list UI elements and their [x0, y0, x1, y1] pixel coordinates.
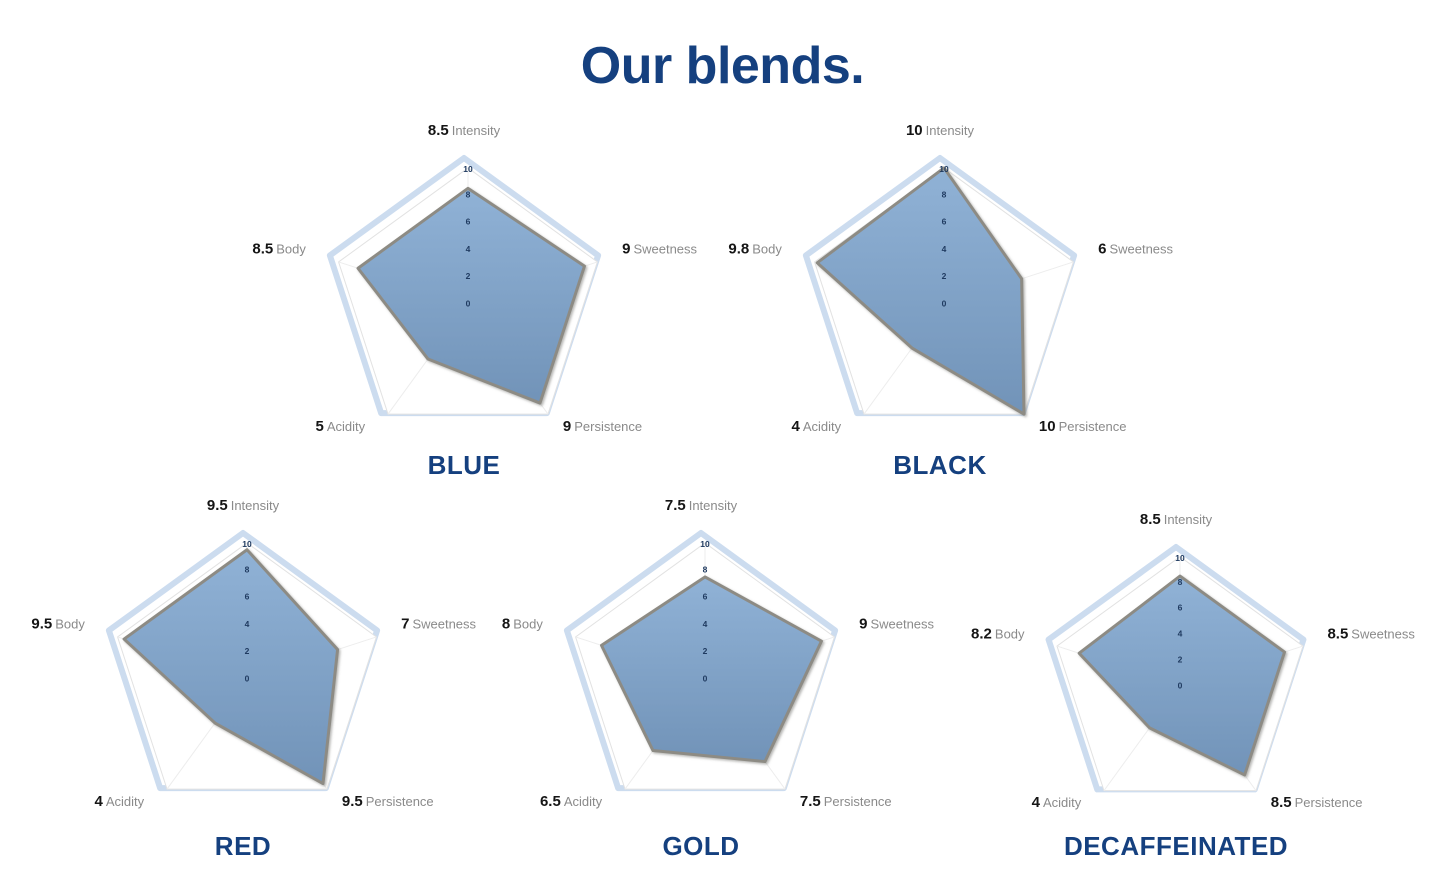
axis-name: Body — [55, 617, 85, 632]
axis-name: Acidity — [106, 794, 144, 809]
radar-tick-label: 10 — [242, 539, 252, 549]
blend-title-decaffeinated: DECAFFEINATED — [966, 831, 1386, 862]
axis-value: 9 — [563, 418, 571, 435]
radar-spoke — [944, 262, 1073, 304]
radar-chart-gold: 10864207.5Intensity9Sweetness7.5Persiste… — [0, 0, 1445, 894]
axis-value: 8.5 — [252, 241, 273, 258]
radar-spoke — [815, 262, 944, 304]
axis-value: 7 — [401, 616, 409, 633]
axis-label-persistence: 8.5Persistence — [1271, 795, 1363, 810]
axis-label-intensity: 8.5Intensity — [1140, 512, 1212, 527]
radar-spoke — [1057, 646, 1180, 686]
radar-tick-label: 6 — [466, 217, 471, 227]
radar-plot-gold: 1086420 — [0, 0, 1445, 894]
axis-label-body: 8.5Body — [252, 242, 306, 257]
blend-title-gold: GOLD — [491, 831, 911, 862]
radar-tick-label: 2 — [703, 646, 708, 656]
axis-label-intensity: 9.5Intensity — [207, 498, 279, 513]
axis-name: Intensity — [926, 123, 974, 138]
axis-name: Acidity — [803, 419, 841, 434]
axis-value: 8.5 — [1327, 625, 1348, 642]
axis-label-intensity: 8.5Intensity — [428, 123, 500, 138]
radar-tick-label: 6 — [703, 592, 708, 602]
radar-plot-red: 1086420 — [0, 0, 1445, 894]
axis-value: 9.8 — [728, 241, 749, 258]
radar-tick-label: 2 — [1178, 654, 1183, 664]
radar-tick-label: 2 — [245, 646, 250, 656]
radar-tick-label: 8 — [466, 189, 471, 199]
radar-data-polygon — [601, 577, 821, 762]
axis-name: Sweetness — [633, 242, 697, 257]
axis-label-sweetness: 9Sweetness — [622, 242, 697, 257]
axis-value: 9.5 — [342, 793, 363, 810]
radar-tick-label: 6 — [1178, 603, 1183, 613]
radar-spoke — [388, 304, 468, 414]
radar-spoke — [339, 262, 468, 304]
axis-name: Acidity — [327, 419, 365, 434]
axis-name: Body — [513, 617, 543, 632]
radar-tick-label: 6 — [245, 592, 250, 602]
axis-name: Intensity — [1164, 512, 1212, 527]
axis-label-sweetness: 6Sweetness — [1098, 242, 1173, 257]
radar-tick-label: 10 — [700, 539, 710, 549]
radar-inner-outline — [576, 543, 835, 789]
radar-tick-label: 8 — [1178, 577, 1183, 587]
axis-value: 9 — [622, 241, 630, 258]
radar-tick-label: 8 — [245, 564, 250, 574]
radar-plot-decaffeinated: 1086420 — [0, 0, 1445, 894]
axis-value: 7.5 — [665, 497, 686, 514]
radar-spoke — [167, 679, 247, 789]
axis-name: Intensity — [231, 498, 279, 513]
axis-label-persistence: 7.5Persistence — [800, 794, 892, 809]
axis-name: Persistence — [1295, 795, 1363, 810]
axis-value: 8 — [502, 616, 510, 633]
axis-value: 8.2 — [971, 625, 992, 642]
radar-tick-label: 10 — [463, 164, 473, 174]
radar-tick-label: 6 — [942, 217, 947, 227]
axis-name: Persistence — [824, 794, 892, 809]
radar-chart-black: 108642010Intensity6Sweetness10Persistenc… — [0, 0, 1445, 894]
radar-tick-label: 10 — [1175, 553, 1185, 563]
axis-label-body: 8Body — [502, 617, 543, 632]
radar-inner-outline — [1057, 557, 1303, 791]
axis-value: 4 — [791, 418, 799, 435]
axis-value: 9 — [859, 616, 867, 633]
axis-label-sweetness: 7Sweetness — [401, 617, 476, 632]
radar-spoke — [468, 304, 548, 414]
radar-spoke — [944, 304, 1024, 414]
radar-outer-ring — [330, 158, 598, 413]
axis-label-intensity: 7.5Intensity — [665, 498, 737, 513]
radar-spoke — [705, 679, 785, 789]
axis-name: Sweetness — [870, 617, 934, 632]
radar-data-polygon — [1079, 576, 1284, 775]
radar-data-polygon — [124, 550, 338, 784]
radar-tick-label: 8 — [942, 189, 947, 199]
axis-value: 8.5 — [428, 122, 449, 139]
axis-name: Persistence — [366, 794, 434, 809]
radar-tick-label: 0 — [703, 673, 708, 683]
radar-spoke — [1180, 686, 1256, 791]
axis-name: Body — [995, 626, 1025, 641]
radar-spoke — [625, 679, 705, 789]
radar-spoke — [705, 637, 834, 679]
blend-title-blue: BLUE — [254, 450, 674, 481]
radar-tick-label: 8 — [703, 564, 708, 574]
axis-name: Sweetness — [1109, 242, 1173, 257]
axis-value: 10 — [1039, 418, 1056, 435]
axis-label-intensity: 10Intensity — [906, 123, 974, 138]
axis-label-sweetness: 8.5Sweetness — [1327, 626, 1414, 641]
radar-plot-black: 1086420 — [0, 0, 1445, 894]
radar-outer-ring — [806, 158, 1074, 413]
radar-inner-outline — [339, 168, 598, 414]
radar-chart-blue: 10864208.5Intensity9Sweetness9Persistenc… — [0, 0, 1445, 894]
radar-tick-label: 4 — [245, 619, 250, 629]
radar-spoke — [247, 637, 376, 679]
axis-value: 5 — [315, 418, 323, 435]
radar-plot-blue: 1086420 — [0, 0, 1445, 894]
axis-name: Acidity — [564, 794, 602, 809]
radar-data-polygon — [358, 188, 584, 403]
axis-label-persistence: 10Persistence — [1039, 419, 1127, 434]
radar-tick-label: 4 — [1178, 629, 1183, 639]
axis-value: 6 — [1098, 241, 1106, 258]
axis-value: 4 — [94, 793, 102, 810]
radar-spoke — [468, 262, 597, 304]
axis-name: Persistence — [1059, 419, 1127, 434]
radar-chart-red: 10864209.5Intensity7Sweetness9.5Persiste… — [0, 0, 1445, 894]
radar-chart-decaffeinated: 10864208.5Intensity8.5Sweetness8.5Persis… — [0, 0, 1445, 894]
radar-tick-label: 0 — [942, 298, 947, 308]
radar-tick-label: 0 — [245, 673, 250, 683]
radar-inner-outline — [118, 543, 377, 789]
radar-outer-ring — [567, 533, 835, 788]
axis-label-sweetness: 9Sweetness — [859, 617, 934, 632]
axis-value: 4 — [1032, 794, 1040, 811]
axis-name: Sweetness — [1351, 626, 1415, 641]
radar-tick-label: 0 — [466, 298, 471, 308]
blend-title-red: RED — [33, 831, 453, 862]
axis-label-acidity: 5Acidity — [315, 419, 365, 434]
axis-value: 8.5 — [1140, 511, 1161, 528]
axis-name: Acidity — [1043, 795, 1081, 810]
radar-outer-ring — [109, 533, 377, 788]
radar-spoke — [864, 304, 944, 414]
radar-spoke — [576, 637, 705, 679]
axis-label-acidity: 4Acidity — [94, 794, 144, 809]
blend-radar-chart-grid: 10864208.5Intensity9Sweetness9Persistenc… — [0, 0, 1445, 894]
axis-name: Persistence — [574, 419, 642, 434]
axis-label-body: 9.8Body — [728, 242, 782, 257]
radar-tick-label: 2 — [466, 271, 471, 281]
axis-name: Intensity — [689, 498, 737, 513]
axis-value: 10 — [906, 122, 923, 139]
axis-label-body: 9.5Body — [31, 617, 85, 632]
axis-value: 7.5 — [800, 793, 821, 810]
radar-spoke — [247, 679, 327, 789]
radar-tick-label: 10 — [939, 164, 949, 174]
axis-value: 6.5 — [540, 793, 561, 810]
axis-value: 9.5 — [207, 497, 228, 514]
axis-value: 8.5 — [1271, 794, 1292, 811]
axis-label-acidity: 4Acidity — [791, 419, 841, 434]
radar-inner-outline — [815, 168, 1074, 414]
blend-title-black: BLACK — [730, 450, 1150, 481]
axis-name: Body — [276, 242, 306, 257]
axis-label-acidity: 4Acidity — [1032, 795, 1082, 810]
radar-tick-label: 4 — [942, 244, 947, 254]
axis-name: Intensity — [452, 123, 500, 138]
axis-label-persistence: 9.5Persistence — [342, 794, 434, 809]
axis-label-persistence: 9Persistence — [563, 419, 642, 434]
radar-data-polygon — [817, 168, 1024, 414]
radar-tick-label: 4 — [466, 244, 471, 254]
radar-spoke — [1180, 646, 1303, 686]
radar-tick-label: 2 — [942, 271, 947, 281]
axis-name: Sweetness — [412, 617, 476, 632]
axis-label-acidity: 6.5Acidity — [540, 794, 602, 809]
radar-spoke — [118, 637, 247, 679]
radar-tick-label: 4 — [703, 619, 708, 629]
radar-outer-ring — [1049, 547, 1304, 789]
axis-label-body: 8.2Body — [971, 626, 1025, 641]
radar-spoke — [1104, 686, 1180, 791]
radar-tick-label: 0 — [1178, 680, 1183, 690]
axis-value: 9.5 — [31, 616, 52, 633]
axis-name: Body — [752, 242, 782, 257]
